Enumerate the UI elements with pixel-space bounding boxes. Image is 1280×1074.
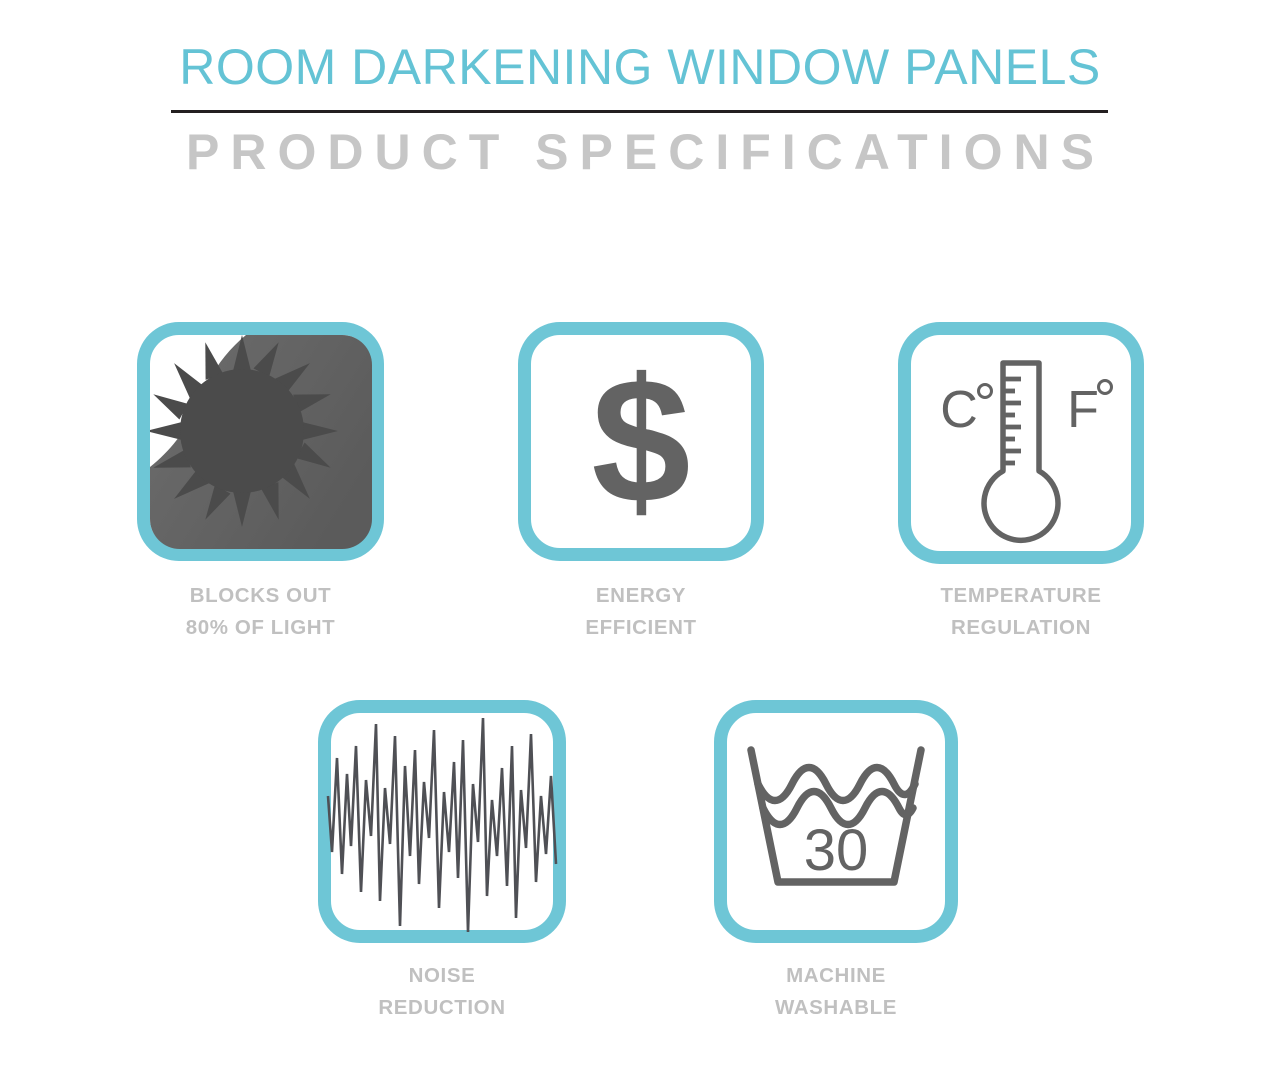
fahrenheit-label: F: [1067, 381, 1099, 439]
celsius-label: C: [940, 381, 978, 439]
page-subtitle: PRODUCT SPECIFICATIONS: [0, 122, 1280, 182]
dollar-sign-icon: $: [531, 335, 751, 548]
spec-card-noise-reduction[interactable]: [318, 700, 566, 943]
spec-card-machine-washable[interactable]: 30: [714, 700, 958, 943]
spec-caption-energy-efficient: ENERGY EFFICIENT: [471, 580, 811, 644]
caption-line-1: BLOCKS OUT: [91, 580, 431, 612]
spec-item-machine-washable[interactable]: 30 MACHINE WASHABLE: [714, 700, 958, 1024]
celsius-degree-icon: [979, 385, 992, 398]
wash-temperature-label: 30: [804, 818, 869, 883]
caption-line-2: REDUCTION: [272, 992, 612, 1024]
spec-item-energy-efficient[interactable]: $ ENERGY EFFICIENT: [518, 322, 764, 644]
spec-item-blocks-out-light[interactable]: BLOCKS OUT 80% OF LIGHT: [137, 322, 384, 644]
caption-line-1: TEMPERATURE: [851, 580, 1191, 612]
caption-line-2: EFFICIENT: [471, 612, 811, 644]
page-title: ROOM DARKENING WINDOW PANELS: [0, 42, 1280, 92]
caption-line-2: 80% OF LIGHT: [91, 612, 431, 644]
spec-card-temperature-regulation[interactable]: C F: [898, 322, 1144, 564]
spec-card-energy-efficient[interactable]: $: [518, 322, 764, 561]
spec-item-noise-reduction[interactable]: NOISE REDUCTION: [318, 700, 566, 1024]
sound-wave-icon: [331, 713, 553, 930]
caption-line-2: REGULATION: [851, 612, 1191, 644]
wash-tub-icon: 30: [727, 713, 945, 930]
spec-caption-noise-reduction: NOISE REDUCTION: [272, 960, 612, 1024]
spec-caption-blocks-out-light: BLOCKS OUT 80% OF LIGHT: [91, 580, 431, 644]
caption-line-2: WASHABLE: [666, 992, 1006, 1024]
caption-line-1: MACHINE: [666, 960, 1006, 992]
spec-caption-machine-washable: MACHINE WASHABLE: [666, 960, 1006, 1024]
fahrenheit-degree-icon: [1099, 381, 1112, 394]
spec-item-temperature-regulation[interactable]: C F TEMPERATURE REGULATION: [898, 322, 1144, 644]
caption-line-1: NOISE: [272, 960, 612, 992]
svg-text:$: $: [592, 341, 691, 540]
blocked-sun-icon: [150, 335, 371, 548]
caption-line-1: ENERGY: [471, 580, 811, 612]
thermometer-icon: C F: [911, 335, 1131, 551]
title-divider: [171, 110, 1108, 113]
spec-card-blocks-out-light[interactable]: [137, 322, 384, 561]
spec-caption-temperature-regulation: TEMPERATURE REGULATION: [851, 580, 1191, 644]
